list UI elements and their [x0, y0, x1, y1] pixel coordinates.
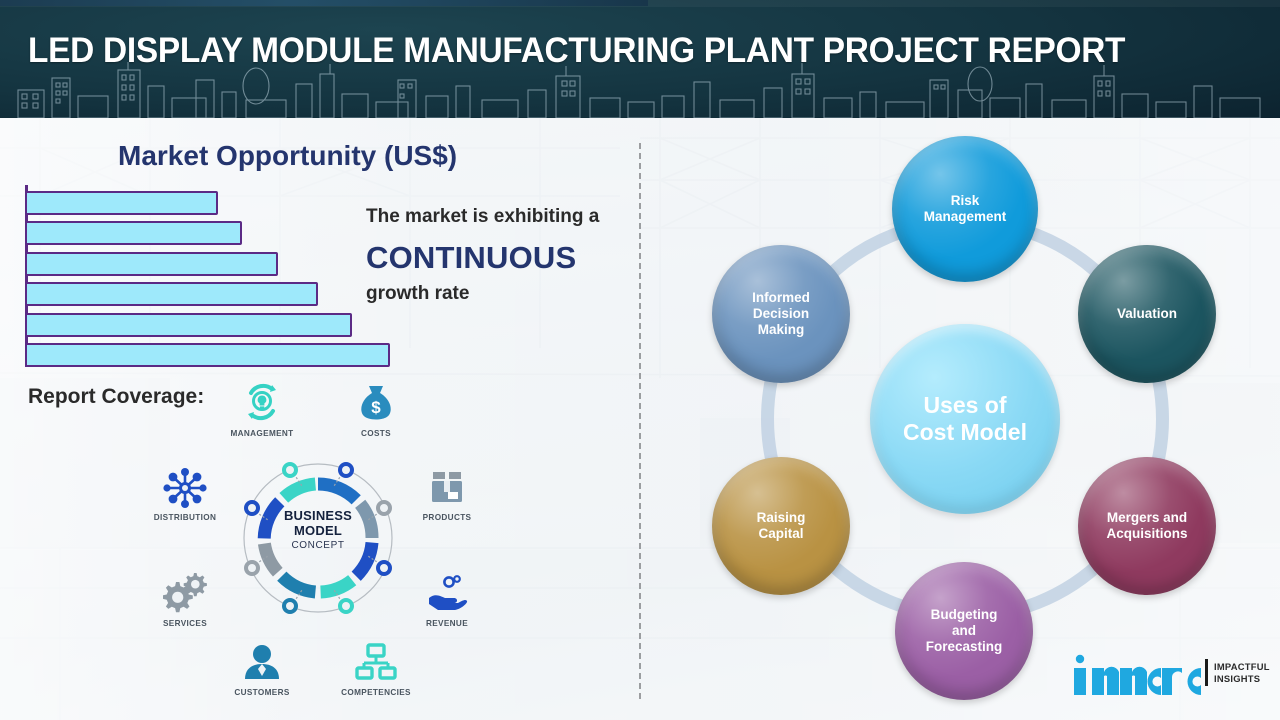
package-box-icon: [392, 462, 502, 508]
coverage-item-management: MANAGEMENT: [207, 378, 317, 438]
coverage-label: CUSTOMERS: [207, 688, 317, 697]
cost-model-node: RaisingCapital: [712, 457, 850, 595]
org-chart-icon: [321, 637, 431, 683]
chart-bar: [25, 313, 352, 337]
slide-canvas: LED DISPLAY MODULE MANUFACTURING PLANT P…: [0, 0, 1280, 720]
cost-model-node-label: Mergers andAcquisitions: [1106, 510, 1187, 542]
chart-bar: [25, 343, 390, 367]
chart-bar: [25, 191, 218, 215]
coverage-item-revenue: REVENUE: [392, 568, 502, 628]
cost-model-hub-label: Uses ofCost Model: [903, 392, 1027, 446]
market-statement-emphasis: CONTINUOUS: [366, 240, 576, 276]
coverage-label: COSTS: [321, 429, 431, 438]
coverage-label: PRODUCTS: [392, 513, 502, 522]
coverage-label: MANAGEMENT: [207, 429, 317, 438]
imarc-logo: IMPACTFUL INSIGHTS: [1068, 652, 1268, 698]
market-statement-line3: growth rate: [366, 283, 469, 305]
business-model-line1: BUSINESS: [232, 508, 404, 523]
panel-divider: [639, 143, 641, 699]
coverage-item-products: PRODUCTS: [392, 462, 502, 522]
imarc-wordmark-icon: [1068, 652, 1204, 696]
gears-icon: [130, 568, 240, 614]
chart-bar: [25, 282, 318, 306]
business-model-line3: CONCEPT: [232, 540, 404, 551]
money-bag-icon: $: [321, 378, 431, 424]
coverage-label: COMPETENCIES: [321, 688, 431, 697]
coverage-item-costs: $ COSTS: [321, 378, 431, 438]
person-user-icon: [207, 637, 317, 683]
coverage-item-services: SERVICES: [130, 568, 240, 628]
svg-text:$: $: [371, 398, 381, 417]
recycle-lightbulb-icon: [207, 378, 317, 424]
cost-model-node: InformedDecisionMaking: [712, 245, 850, 383]
coverage-item-distribution: DISTRIBUTION: [130, 462, 240, 522]
cost-model-node: RiskManagement: [892, 136, 1038, 282]
page-title: LED DISPLAY MODULE MANUFACTURING PLANT P…: [28, 31, 1125, 71]
cost-model-node-label: InformedDecisionMaking: [752, 290, 810, 338]
cost-model-node-label: Valuation: [1117, 306, 1177, 322]
coverage-label: SERVICES: [130, 619, 240, 628]
slide-header: LED DISPLAY MODULE MANUFACTURING PLANT P…: [0, 0, 1280, 118]
header-accent-strip: [0, 0, 648, 6]
chart-bar: [25, 221, 242, 245]
logo-tagline-line1: IMPACTFUL: [1214, 661, 1270, 673]
logo-separator: [1205, 659, 1208, 686]
hand-coins-icon: [392, 568, 502, 614]
coverage-item-competencies: COMPETENCIES: [321, 637, 431, 697]
cost-model-node-label: RaisingCapital: [757, 510, 806, 542]
business-model-diagram: BUSINESS MODEL CONCEPT: [232, 450, 404, 626]
report-coverage-label: Report Coverage:: [28, 385, 204, 409]
cost-model-node-label: BudgetingandForecasting: [926, 607, 1003, 655]
business-model-line2: MODEL: [232, 523, 404, 538]
cost-model-hub: Uses ofCost Model: [870, 324, 1060, 514]
logo-tagline-line2: INSIGHTS: [1214, 673, 1270, 685]
coverage-label: REVENUE: [392, 619, 502, 628]
market-opportunity-title: Market Opportunity (US$): [118, 140, 457, 172]
business-model-center-text: BUSINESS MODEL CONCEPT: [232, 508, 404, 551]
cost-model-node: Mergers andAcquisitions: [1078, 457, 1216, 595]
coverage-label: DISTRIBUTION: [130, 513, 240, 522]
coverage-item-customers: CUSTOMERS: [207, 637, 317, 697]
cost-model-node: BudgetingandForecasting: [895, 562, 1033, 700]
chart-bar: [25, 252, 278, 276]
market-statement-line1: The market is exhibiting a: [366, 206, 599, 228]
logo-tagline: IMPACTFUL INSIGHTS: [1214, 661, 1270, 684]
network-nodes-icon: [130, 462, 240, 508]
cost-model-node-label: RiskManagement: [924, 193, 1007, 225]
cost-model-node: Valuation: [1078, 245, 1216, 383]
